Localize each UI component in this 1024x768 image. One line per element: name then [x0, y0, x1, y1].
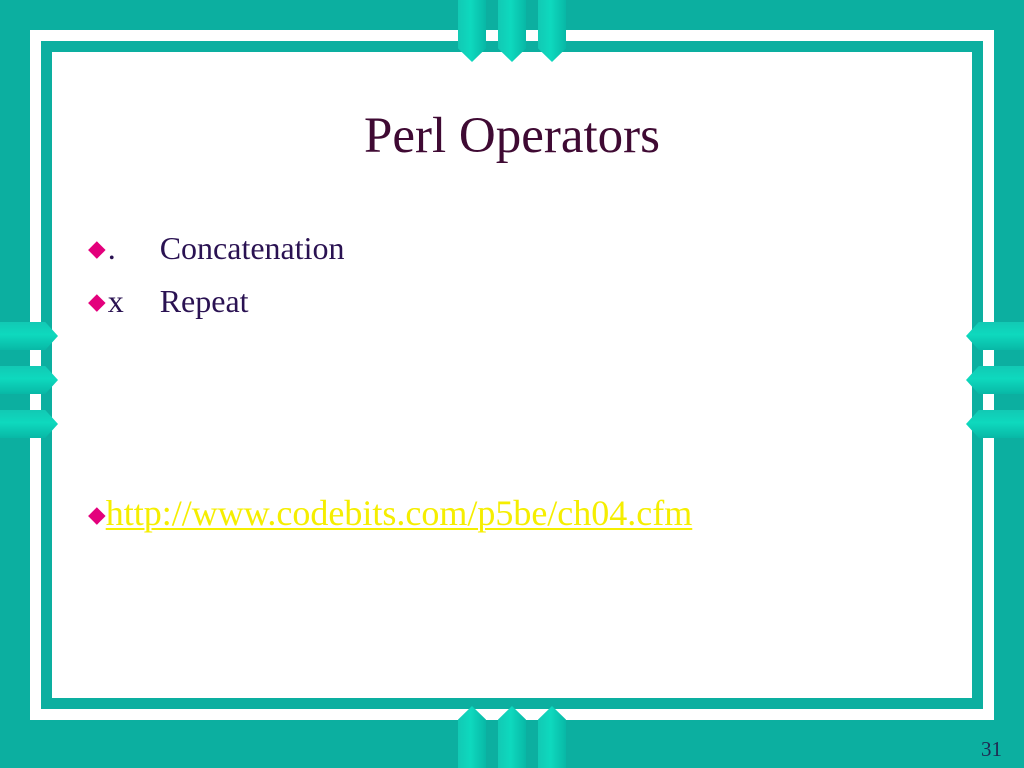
- operator-symbol: x: [108, 283, 160, 320]
- list-item: ◆ x Repeat: [88, 283, 948, 320]
- slide-body: Perl Operators ◆ . Concatenation ◆ x Rep…: [52, 52, 972, 698]
- ribbon-strip-icon: [0, 410, 58, 438]
- ribbon-strip-icon: [498, 706, 526, 768]
- ribbon-strip-icon: [0, 322, 58, 350]
- ribbon-decoration-right: [966, 322, 1024, 438]
- ribbon-strip-icon: [0, 366, 58, 394]
- ribbon-decoration-bottom: [458, 706, 566, 768]
- list-item: ◆ . Concatenation: [88, 230, 948, 267]
- page-number: 31: [981, 737, 1002, 762]
- operator-bullet-list: ◆ . Concatenation ◆ x Repeat: [88, 230, 948, 336]
- operator-description: Concatenation: [160, 230, 345, 267]
- reference-link[interactable]: http://www.codebits.com/p5be/ch04.cfm: [106, 492, 693, 534]
- ribbon-strip-icon: [966, 410, 1024, 438]
- ribbon-strip-icon: [458, 706, 486, 768]
- reference-link-row: ◆ http://www.codebits.com/p5be/ch04.cfm: [88, 492, 692, 534]
- diamond-bullet-icon: ◆: [88, 503, 106, 526]
- diamond-bullet-icon: ◆: [88, 237, 106, 260]
- ribbon-strip-icon: [538, 706, 566, 768]
- ribbon-decoration-left: [0, 322, 58, 438]
- ribbon-strip-icon: [966, 322, 1024, 350]
- page-title: Perl Operators: [52, 108, 972, 164]
- operator-symbol: .: [108, 230, 160, 267]
- diamond-bullet-icon: ◆: [88, 290, 106, 313]
- slide-canvas: Perl Operators ◆ . Concatenation ◆ x Rep…: [0, 0, 1024, 768]
- operator-description: Repeat: [160, 283, 249, 320]
- ribbon-strip-icon: [966, 366, 1024, 394]
